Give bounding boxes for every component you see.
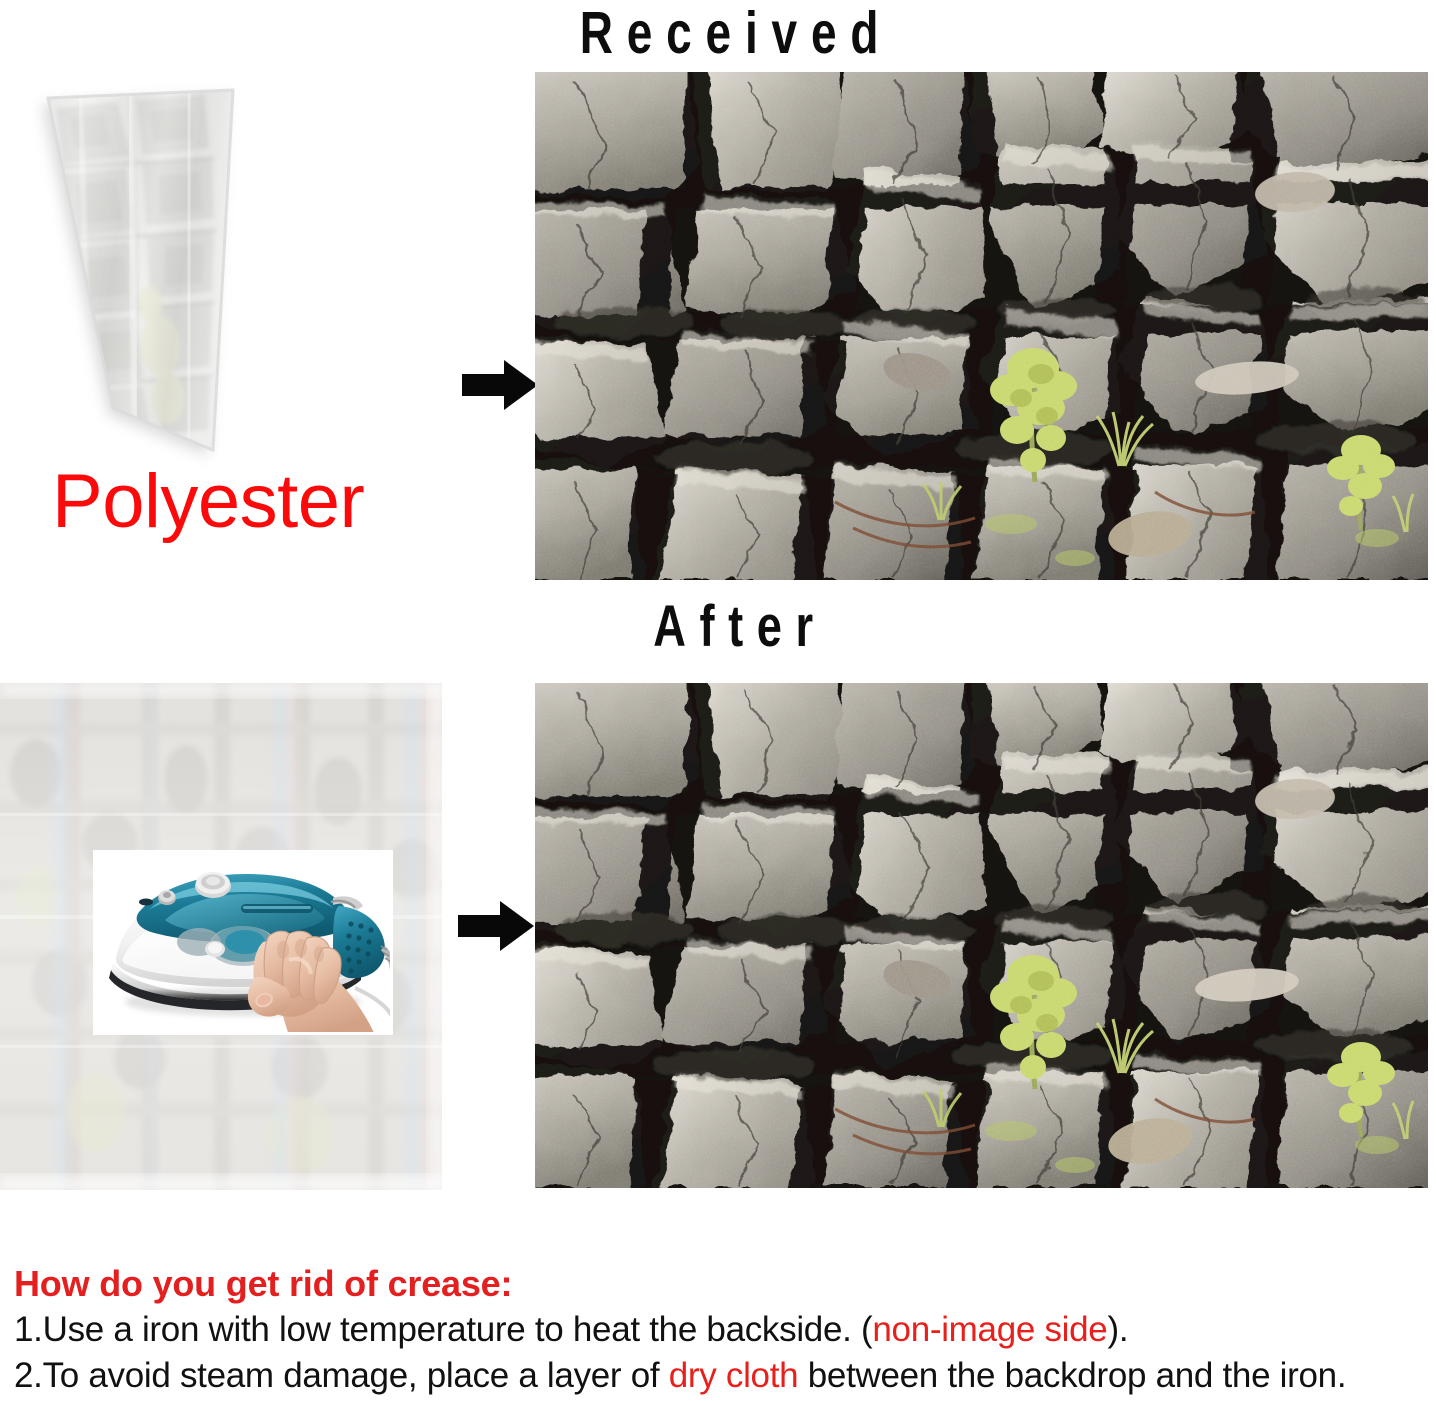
care-line-1-text-a: 1.Use a iron with low temperature to hea… — [14, 1310, 872, 1349]
section-title-received: Received — [463, 2, 1009, 64]
rock-backdrop-received — [535, 72, 1428, 580]
right-arrow-icon — [462, 357, 538, 413]
care-line-2-text-a: 2.To avoid steam damage, place a layer o… — [14, 1356, 669, 1395]
material-label: Polyester — [52, 462, 364, 542]
care-line-1-highlight: non-image side — [872, 1310, 1107, 1349]
care-instructions: How do you get rid of crease: 1.Use a ir… — [14, 1262, 1434, 1398]
care-instructions-heading: How do you get rid of crease: — [14, 1262, 1434, 1306]
folded-fabric-swatch — [18, 78, 418, 478]
care-instruction-line-1: 1.Use a iron with low temperature to hea… — [14, 1308, 1434, 1352]
section-title-after: After — [498, 596, 982, 658]
care-line-1-text-b: ). — [1107, 1310, 1128, 1349]
right-arrow-icon — [458, 898, 534, 954]
product-infographic: Received — [0, 0, 1436, 1401]
rock-backdrop-after — [535, 683, 1428, 1188]
care-line-2-text-b: between the backdrop and the iron. — [798, 1356, 1346, 1395]
clothes-iron-photo — [93, 850, 393, 1035]
care-instruction-line-2: 2.To avoid steam damage, place a layer o… — [14, 1354, 1434, 1398]
care-line-2-highlight: dry cloth — [669, 1356, 799, 1395]
